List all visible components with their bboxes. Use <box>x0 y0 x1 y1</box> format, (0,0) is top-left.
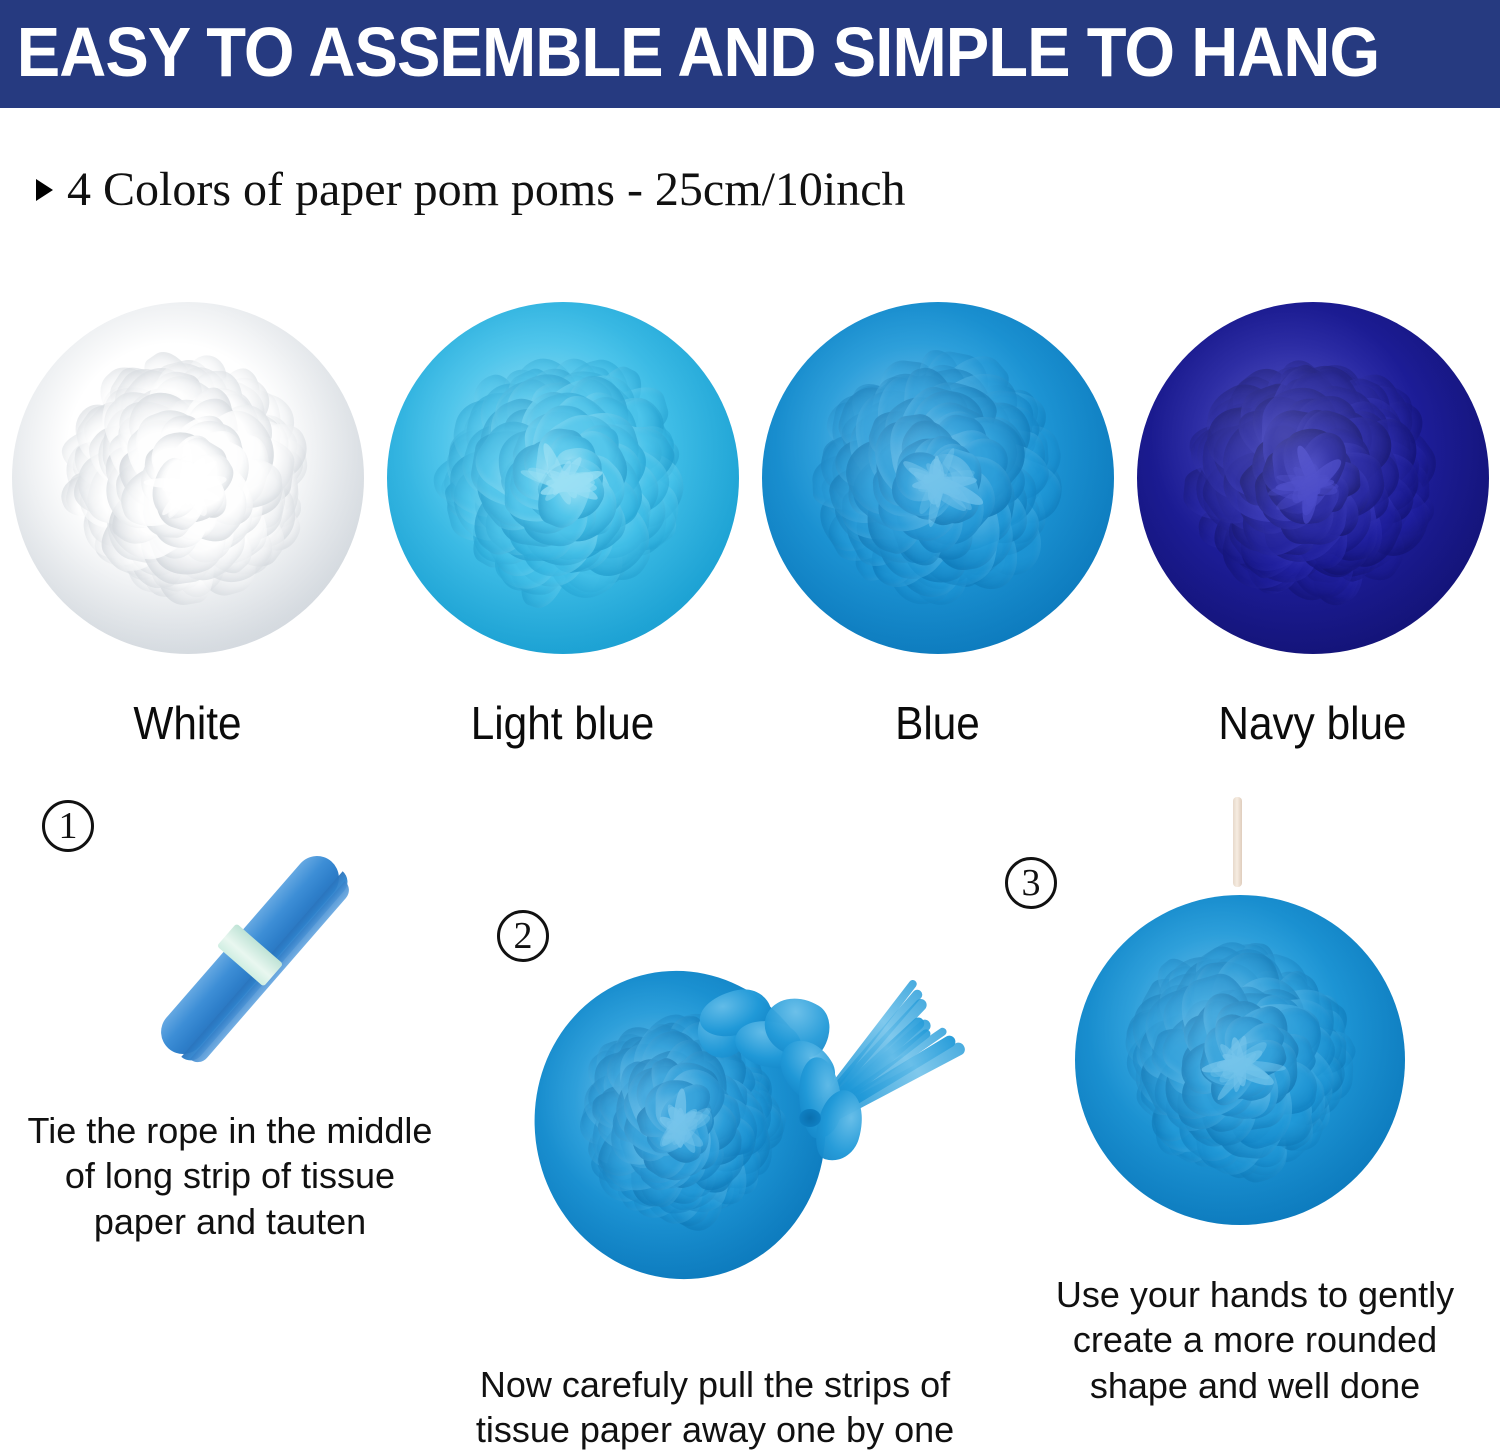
pom-pom-label-blue: Blue <box>765 696 1110 750</box>
half-opened-pom-pom-illustration <box>480 900 960 1340</box>
pom-label-cell-blue: Blue <box>750 278 1125 678</box>
hanging-string <box>1233 797 1242 887</box>
knot-point <box>799 1109 821 1127</box>
step-3: 3 <box>990 785 1480 1255</box>
step-3-caption: Use your hands to gently create a more r… <box>1040 1272 1470 1408</box>
pom-pom-label-light-blue: Light blue <box>390 696 735 750</box>
pom-pom-label-white: White <box>15 696 360 750</box>
pom-pom-label-navy-blue: Navy blue <box>1140 696 1485 750</box>
finished-pom-pom-image <box>1075 895 1405 1225</box>
header-banner: EASY TO ASSEMBLE AND SIMPLE TO HANG <box>0 0 1500 108</box>
step-2-caption: Now carefuly pull the strips of tissue p… <box>460 1362 970 1453</box>
step-1-number: 1 <box>42 800 94 852</box>
pom-label-cell-navy-blue: Navy blue <box>1125 278 1500 678</box>
triangle-right-marker-icon <box>36 179 53 201</box>
subtitle-row: 4 Colors of paper pom poms - 25cm/10inch <box>36 162 906 217</box>
pom-pom-color-row: White Light blue Blue Navy blue <box>0 278 1500 678</box>
folded-tissue-strip-illustration <box>100 810 400 1100</box>
pom-label-cell-light-blue: Light blue <box>375 278 750 678</box>
subtitle-text: 4 Colors of paper pom poms - 25cm/10inch <box>67 162 906 217</box>
banner-title: EASY TO ASSEMBLE AND SIMPLE TO HANG <box>0 17 1379 87</box>
step-2: 2 <box>480 900 960 1340</box>
pom-label-cell-white: White <box>0 278 375 678</box>
step-1-caption: Tie the rope in the middle of long strip… <box>10 1108 450 1244</box>
step-3-number: 3 <box>1005 857 1057 909</box>
